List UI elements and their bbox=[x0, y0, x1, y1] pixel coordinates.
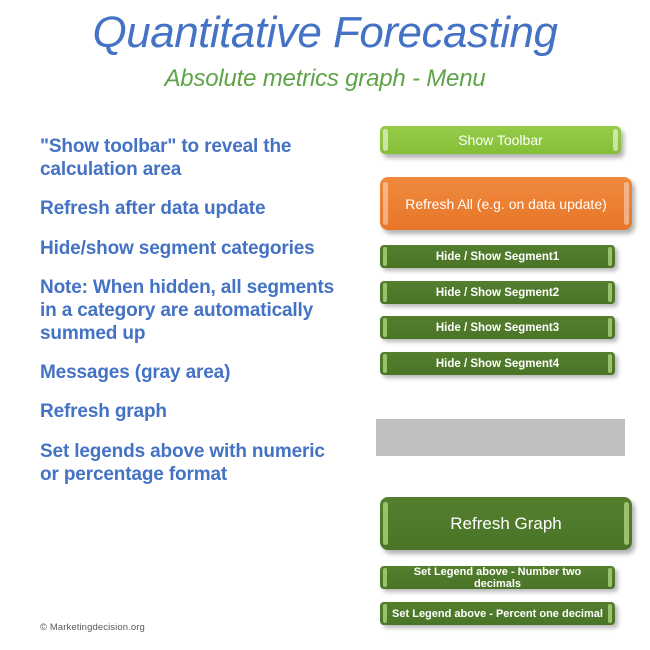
annotation-hidden-note: Note: When hidden, all segments in a cat… bbox=[40, 276, 340, 346]
refresh-all-button[interactable]: Refresh All (e.g. on data update) bbox=[380, 177, 632, 230]
set-legend-number-button[interactable]: Set Legend above - Number two decimals bbox=[380, 566, 615, 589]
annotation-hide-show-segments: Hide/show segment categories bbox=[40, 237, 340, 260]
hide-show-segment1-button[interactable]: Hide / Show Segment1 bbox=[380, 245, 615, 268]
hide-show-segment1-label: Hide / Show Segment1 bbox=[424, 251, 571, 263]
hide-show-segment4-label: Hide / Show Segment4 bbox=[424, 358, 571, 370]
refresh-all-label: Refresh All (e.g. on data update) bbox=[393, 196, 619, 212]
show-toolbar-label: Show Toolbar bbox=[446, 132, 555, 148]
refresh-graph-button[interactable]: Refresh Graph bbox=[380, 497, 632, 550]
set-legend-percent-label: Set Legend above - Percent one decimal bbox=[380, 608, 615, 620]
annotation-show-toolbar: "Show toolbar" to reveal the calculation… bbox=[40, 135, 340, 181]
show-toolbar-button[interactable]: Show Toolbar bbox=[380, 126, 621, 154]
annotation-set-legends: Set legends above with numeric or percen… bbox=[40, 440, 340, 486]
hide-show-segment2-button[interactable]: Hide / Show Segment2 bbox=[380, 281, 615, 304]
annotation-messages: Messages (gray area) bbox=[40, 361, 340, 384]
hide-show-segment4-button[interactable]: Hide / Show Segment4 bbox=[380, 352, 615, 375]
copyright-notice: © Marketingdecision.org bbox=[40, 622, 145, 633]
hide-show-segment2-label: Hide / Show Segment2 bbox=[424, 287, 571, 299]
refresh-graph-label: Refresh Graph bbox=[438, 514, 574, 534]
annotation-list: "Show toolbar" to reveal the calculation… bbox=[40, 135, 340, 486]
messages-area bbox=[376, 419, 625, 456]
annotation-refresh-after-update: Refresh after data update bbox=[40, 197, 340, 220]
hide-show-segment3-label: Hide / Show Segment3 bbox=[424, 322, 571, 334]
hide-show-segment3-button[interactable]: Hide / Show Segment3 bbox=[380, 316, 615, 339]
set-legend-percent-button[interactable]: Set Legend above - Percent one decimal bbox=[380, 602, 615, 625]
annotation-refresh-graph: Refresh graph bbox=[40, 400, 340, 423]
header: Quantitative Forecasting Absolute metric… bbox=[0, 0, 650, 93]
page-subtitle: Absolute metrics graph - Menu bbox=[0, 59, 650, 93]
set-legend-number-label: Set Legend above - Number two decimals bbox=[380, 566, 615, 589]
page-title: Quantitative Forecasting bbox=[0, 0, 650, 59]
